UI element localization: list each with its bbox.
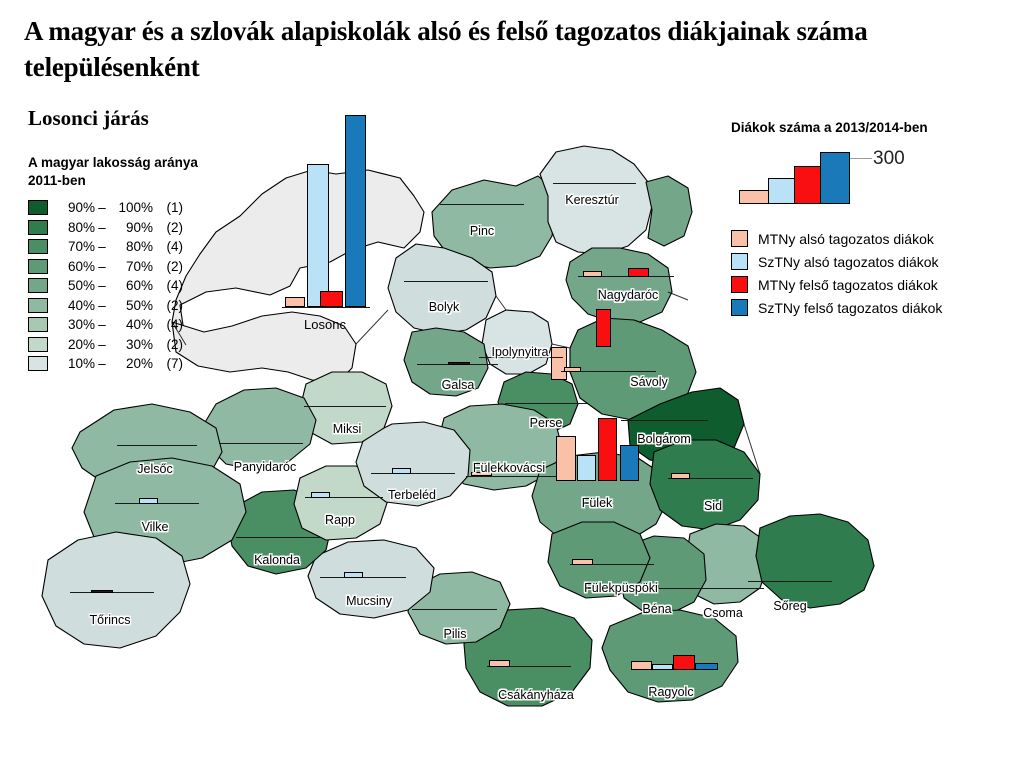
bar-terbeléd-sztny-also (392, 468, 411, 474)
baseline-keresztúr (553, 183, 636, 184)
losonc-bar-mtny-also (285, 297, 305, 307)
bar-chart-legend: Diákok száma a 2013/2014-ben 300 MTNy al… (731, 120, 991, 319)
bar-legend-label: MTNy felső tagozatos diákok (758, 277, 938, 293)
bar-fülek-sztny-also (577, 455, 596, 481)
bar-ragyolc-sztny-felso (695, 663, 718, 670)
choropleth-legend-swatch (28, 220, 48, 235)
bar-legend-row: MTNy alsó tagozatos diákok (731, 227, 991, 250)
baseline-terbeléd (371, 473, 455, 474)
bar-ipolynyitra-mtny-felso (596, 309, 611, 347)
region-torincs (42, 532, 190, 648)
baseline-bolyk (404, 281, 488, 282)
choropleth-legend-swatch (28, 298, 48, 313)
choropleth-legend-row: 90%–100%(1) (28, 198, 218, 218)
bar-scale-segment (739, 190, 769, 204)
bar-legend-row: MTNy felső tagozatos diákok (731, 273, 991, 296)
bar-sávoly-mtny-also (564, 367, 581, 372)
choropleth-legend-label: 50%–60%(4) (57, 278, 183, 293)
bar-legend-row: SzTNy alsó tagozatos diákok (731, 250, 991, 273)
choropleth-legend-label: 80%–90%(2) (57, 220, 183, 235)
region-soreg (756, 514, 874, 608)
scale-value-label: 300 (873, 148, 905, 170)
baseline-perse (505, 403, 587, 404)
losonc-bar-mtny-felso (320, 291, 343, 307)
region-ragyolc (602, 610, 738, 702)
losonc-bar-sztny-also (307, 164, 329, 307)
choropleth-legend-row: 80%–90%(2) (28, 217, 218, 237)
bar-fülek-mtny-felso (598, 418, 617, 481)
bar-scale-segment (794, 166, 821, 204)
bar-scale-illustration: 300 (739, 147, 991, 219)
bar-ragyolc-sztny-also (652, 664, 673, 670)
region-subtitle: Losonci járás (28, 106, 149, 131)
bar-galsa-mtny-felso (448, 362, 470, 365)
bar-legend-title: Diákok száma a 2013/2014-ben (731, 120, 991, 135)
choropleth-legend-swatch (28, 259, 48, 274)
bar-scale-segment (820, 152, 850, 204)
choropleth-legend-swatch (28, 337, 48, 352)
bar-legend-label: MTNy alsó tagozatos diákok (758, 231, 934, 247)
bar-mucsiny-sztny-also (344, 572, 363, 578)
baseline-sőreg (748, 581, 832, 582)
bar-legend-swatch (731, 253, 748, 270)
bar-fülek-mtny-also (556, 436, 576, 481)
bar-tőrincs-mtny-felso (91, 590, 113, 593)
choropleth-legend-row: 20%–30%(2) (28, 334, 218, 354)
choropleth-legend-label: 60%–70%(2) (57, 259, 183, 274)
losonc-bar-sztny-felso (345, 115, 366, 307)
page-title: A magyar és a szlovák alapiskolák alsó é… (24, 14, 984, 86)
choropleth-legend-label: 30%–40%(4) (57, 317, 183, 332)
baseline-ipolynyitra-base (479, 357, 563, 358)
bar-legend-row: SzTNy felső tagozatos diákok (731, 296, 991, 319)
bar-legend-items: MTNy alsó tagozatos diákokSzTNy alsó tag… (731, 227, 991, 319)
bar-nagydaróc-mtny-also (583, 271, 602, 277)
baseline-fülekkovácsi (466, 476, 561, 477)
choropleth-legend-label: 10%–20%(7) (57, 356, 183, 371)
map-infographic-page: A magyar és a szlovák alapiskolák alsó é… (0, 0, 1010, 779)
bar-ragyolc-mtny-felso (673, 655, 695, 670)
region-panyidaroc (204, 388, 316, 470)
region-galsa (404, 328, 488, 396)
choropleth-legend-title: A magyar lakosság aránya 2011-ben (28, 154, 218, 190)
choropleth-legend-swatch (28, 200, 48, 215)
baseline-bolgárom (621, 420, 708, 421)
bar-ipolynyitra-mtny-also (551, 347, 567, 380)
region-keresztur (540, 146, 652, 254)
bar-rapp-sztny-also (311, 492, 330, 498)
choropleth-legend-row: 70%–80%(4) (28, 237, 218, 257)
choropleth-legend-row: 10%–20%(7) (28, 354, 218, 374)
bar-legend-swatch (731, 299, 748, 316)
bar-legend-label: SzTNy felső tagozatos diákok (758, 300, 942, 316)
region-nagydaroc (566, 248, 672, 322)
baseline-miksi (304, 406, 386, 407)
bar-ragyolc-mtny-also (631, 661, 652, 670)
losonc-baseline (282, 307, 370, 308)
baseline-pinc (440, 204, 524, 205)
baseline-pilis (412, 609, 497, 610)
bar-sid-mtny-also (671, 473, 690, 479)
choropleth-legend-row: 40%–50%(2) (28, 295, 218, 315)
choropleth-legend-swatch (28, 317, 48, 332)
bar-vilke-sztny-also (139, 498, 158, 504)
baseline-panyidaróc (219, 443, 303, 444)
region-ne-wedge (646, 176, 692, 246)
region-sid (650, 440, 760, 530)
choropleth-legend-swatch (28, 239, 48, 254)
choropleth-legend-swatch (28, 356, 48, 371)
choropleth-legend-row: 30%–40%(4) (28, 315, 218, 335)
choropleth-legend: A magyar lakosság aránya 2011-ben 90%–10… (28, 154, 218, 373)
bar-csákányháza-mtny-also (489, 660, 510, 667)
choropleth-legend-label: 40%–50%(2) (57, 298, 183, 313)
baseline-kalonda (236, 537, 320, 538)
choropleth-legend-swatch (28, 278, 48, 293)
baseline-csoma (680, 588, 764, 589)
bar-legend-swatch (731, 230, 748, 247)
baseline-jelsőc (117, 445, 197, 446)
bar-fülekkovácsi-mtny-also (471, 472, 492, 476)
bar-legend-label: SzTNy alsó tagozatos diákok (758, 254, 939, 270)
bar-legend-swatch (731, 276, 748, 293)
bar-fülekpüspöki-mtny-also (572, 559, 593, 565)
bar-scale-segment (768, 178, 795, 204)
choropleth-legend-label: 20%–30%(2) (57, 337, 183, 352)
choropleth-legend-row: 60%–70%(2) (28, 256, 218, 276)
losonc-label: Losonc (304, 317, 346, 332)
baseline-mucsiny (320, 577, 406, 578)
choropleth-legend-label: 70%–80%(4) (57, 239, 183, 254)
choropleth-legend-rows: 90%–100%(1)80%–90%(2)70%–80%(4)60%–70%(2… (28, 198, 218, 374)
bar-béna-mtny-felso (637, 585, 659, 589)
bar-fülek-sztny-felso (620, 445, 639, 481)
choropleth-legend-row: 50%–60%(4) (28, 276, 218, 296)
bar-nagydaróc-mtny-felso (628, 268, 649, 277)
choropleth-legend-label: 90%–100%(1) (57, 200, 183, 215)
